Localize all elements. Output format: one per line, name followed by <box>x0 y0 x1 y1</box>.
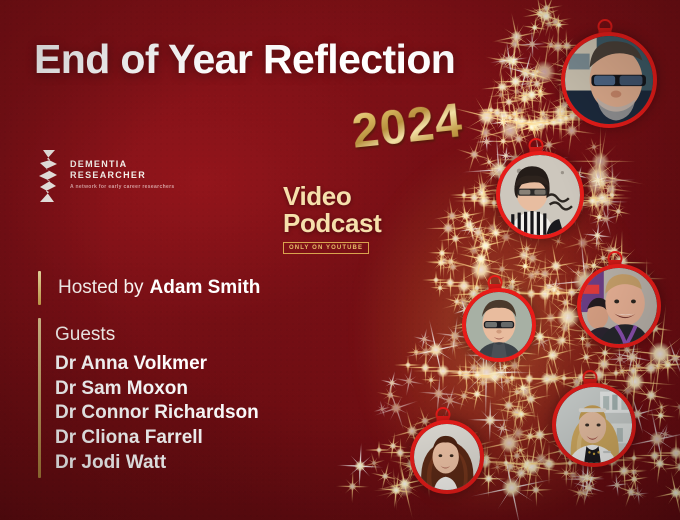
sparkle-light <box>498 394 521 417</box>
sparkle-light <box>583 471 599 487</box>
host-accent-bar <box>38 271 41 305</box>
sparkle-light <box>495 421 509 435</box>
sparkle-light <box>579 478 600 499</box>
sparkle-light <box>512 447 552 487</box>
sparkle-light <box>498 49 520 71</box>
garland-sparkle <box>482 364 508 390</box>
sparkle-light <box>385 479 406 500</box>
sparkle-light <box>528 21 542 35</box>
garland-sparkle <box>468 366 487 385</box>
sparkle-light <box>526 444 555 473</box>
sparkle-light <box>496 135 510 149</box>
sparkle-light <box>524 36 540 52</box>
ornament-ball <box>462 288 536 362</box>
ornament-ball <box>561 32 657 128</box>
sparkle-light <box>478 409 500 431</box>
sparkle-light <box>475 186 491 202</box>
sparkle-light <box>534 105 552 123</box>
youtube-badge: ONLY ON YOUTUBE <box>283 242 369 254</box>
sparkle-light <box>508 460 534 486</box>
sparkle-light <box>592 209 606 223</box>
sparkle-light <box>544 38 558 52</box>
sparkle-light <box>589 226 606 243</box>
sparkle-light <box>658 355 677 374</box>
sparkle-light <box>526 73 547 94</box>
sparkle-light <box>520 116 543 139</box>
sparkle-light <box>384 375 399 390</box>
sparkle-light <box>526 119 542 135</box>
sparkle-light <box>509 101 530 122</box>
sparkle-light <box>497 80 512 95</box>
sparkle-light <box>500 48 527 75</box>
video-podcast-block: Video Podcast ONLY ON YOUTUBE <box>283 183 381 254</box>
sparkle-light <box>659 428 671 440</box>
sparkle-light <box>520 83 544 107</box>
sparkle-light <box>587 194 607 214</box>
sparkle-light <box>520 62 547 89</box>
sparkle-light <box>484 419 532 467</box>
guests-label: Guests <box>55 324 259 346</box>
sparkle-light <box>591 188 619 216</box>
garland-sparkle <box>523 117 535 129</box>
sparkle-light <box>545 281 563 299</box>
sparkle-light <box>619 344 645 370</box>
sparkle-light <box>455 210 483 238</box>
end-of-year-reflection-poster: End of Year Reflection 2024 DEMENTIA RES… <box>0 0 680 520</box>
podcast-line-1: Video <box>283 183 381 210</box>
ornament-ball <box>552 383 636 467</box>
sparkle-light <box>494 88 509 103</box>
garland-sparkle <box>458 189 470 201</box>
host-prefix: Hosted by <box>58 277 144 299</box>
sparkle-light <box>668 455 680 479</box>
sparkle-light <box>462 142 486 166</box>
sparkle-light <box>479 469 498 488</box>
logo-text: DEMENTIA RESEARCHER A network for early … <box>70 160 175 192</box>
sparkle-light <box>531 123 543 135</box>
sparkle-light <box>417 331 455 369</box>
sparkle-light <box>546 12 566 32</box>
avatar <box>466 292 532 358</box>
garland-sparkle <box>663 440 680 466</box>
sparkle-light <box>587 140 600 153</box>
sparkle-light <box>537 276 560 299</box>
sparkle-light <box>673 486 680 500</box>
avatar <box>500 155 580 235</box>
avatar <box>581 268 657 344</box>
sparkle-light <box>520 75 536 91</box>
sparkle-light <box>367 455 381 469</box>
sparkle-light <box>441 205 463 227</box>
sparkle-light <box>464 221 479 236</box>
sparkle-light <box>491 462 502 473</box>
garland-sparkle <box>645 446 664 465</box>
sparkle-light <box>503 399 531 427</box>
sparkle-light <box>434 283 445 294</box>
sparkle-light <box>540 16 558 34</box>
sparkle-light <box>516 381 530 395</box>
garland-sparkle <box>500 457 512 469</box>
sparkle-light <box>513 83 536 106</box>
garland-sparkle <box>589 185 615 211</box>
sparkle-light <box>505 105 524 124</box>
sparkle-light <box>516 90 533 107</box>
sparkle-light <box>399 372 417 390</box>
garland-sparkle <box>471 188 497 214</box>
sparkle-light <box>381 393 411 423</box>
sparkle-light <box>434 255 449 270</box>
garland-sparkle <box>552 287 564 299</box>
sparkle-light <box>376 467 395 486</box>
sparkle-light <box>571 484 589 502</box>
sparkle-light <box>473 176 494 197</box>
sparkle-light <box>500 93 518 111</box>
sparkle-light <box>572 468 594 490</box>
sparkle-light <box>620 481 641 502</box>
ornament-3 <box>577 264 653 340</box>
sparkle-light <box>416 342 436 362</box>
sparkle-light <box>592 173 604 185</box>
sparkle-light <box>522 428 538 444</box>
sparkle-light <box>466 244 495 273</box>
sparkle-light <box>655 402 666 413</box>
sparkle-light <box>507 276 520 289</box>
garland-sparkle <box>507 111 526 130</box>
sparkle-light <box>476 376 489 389</box>
sparkle-light <box>514 88 536 110</box>
sparkle-light <box>648 452 671 475</box>
sparkle-light <box>463 239 485 261</box>
sparkle-light <box>376 404 387 415</box>
sparkle-light <box>662 345 680 370</box>
sparkle-light <box>625 471 642 488</box>
page-title: End of Year Reflection <box>34 38 455 81</box>
sparkle-light <box>502 22 531 51</box>
sparkle-light <box>593 173 613 193</box>
sparkle-light <box>382 387 399 404</box>
garland-sparkle <box>532 281 558 307</box>
sparkle-light <box>536 0 556 17</box>
garland-sparkle <box>465 188 484 207</box>
garland-sparkle <box>485 104 497 116</box>
sparkle-light <box>511 57 541 87</box>
avatar <box>556 387 632 463</box>
avatar <box>414 424 480 490</box>
sparkle-light <box>540 307 562 329</box>
garland-sparkle <box>525 114 544 133</box>
sparkle-light <box>509 448 525 464</box>
sparkle-light <box>454 362 479 387</box>
sparkle-light <box>445 259 462 276</box>
guest-name: Dr Sam Moxon <box>55 377 259 402</box>
sparkle-light <box>471 230 501 260</box>
sparkle-light <box>465 94 510 139</box>
sparkle-light <box>418 332 432 346</box>
sparkle-light <box>469 180 494 205</box>
sparkle-light <box>481 136 493 148</box>
sparkle-light <box>512 405 531 424</box>
sparkle-light <box>652 360 664 372</box>
sparkle-light <box>627 465 642 480</box>
sparkle-light <box>518 386 544 412</box>
sparkle-light <box>511 387 522 398</box>
sparkle-light <box>507 127 531 151</box>
sparkle-light <box>411 347 421 357</box>
sparkle-light <box>558 117 586 145</box>
sparkle-light <box>455 387 474 406</box>
podcast-line-2: Podcast <box>283 210 381 237</box>
dementia-researcher-logo: DEMENTIA RESEARCHER A network for early … <box>37 150 175 202</box>
sparkle-light <box>611 203 626 218</box>
sparkle-light <box>542 252 570 280</box>
sparkle-light <box>492 50 514 72</box>
sparkle-light <box>630 358 646 374</box>
sparkle-light <box>503 418 533 448</box>
garland-sparkle <box>454 367 466 379</box>
sparkle-light <box>509 241 537 269</box>
sparkle-light <box>433 251 452 270</box>
host-name: Adam Smith <box>150 277 261 299</box>
sparkle-light <box>444 335 463 354</box>
sparkle-light <box>552 235 564 247</box>
garland-sparkle <box>509 109 535 135</box>
garland-sparkle <box>528 111 554 137</box>
garland-sparkle <box>624 361 643 380</box>
guests-accent-bar <box>38 318 41 478</box>
sparkle-light <box>538 340 568 370</box>
logo-tagline: A network for early career researchers <box>70 184 175 192</box>
sparkle-light <box>465 219 491 245</box>
garland-sparkle <box>610 367 622 379</box>
garland-sparkle <box>488 103 507 122</box>
sparkle-light <box>498 455 521 478</box>
garland-sparkle <box>430 358 456 384</box>
sparkle-light <box>544 350 557 363</box>
sparkle-light <box>526 481 544 499</box>
sparkle-light <box>559 466 572 479</box>
sparkle-light <box>532 66 543 77</box>
sparkle-light <box>548 280 562 294</box>
sparkle-light <box>637 382 664 409</box>
garland-sparkle <box>373 444 385 456</box>
sparkle-light <box>553 20 564 31</box>
host-line: Hosted by Adam Smith <box>38 270 260 306</box>
garland-sparkle <box>541 117 553 129</box>
sparkle-light <box>503 69 528 94</box>
sparkle-light <box>532 86 548 102</box>
garland-sparkle <box>391 443 410 462</box>
sparkle-light <box>436 216 460 240</box>
sparkle-light <box>578 468 596 486</box>
guest-name: Dr Cliona Farrell <box>55 426 259 451</box>
sparkle-light <box>518 258 533 273</box>
ornament-ball <box>577 264 661 348</box>
guest-name: Dr Jodi Watt <box>55 451 259 476</box>
ornament-6 <box>552 383 628 459</box>
ornament-1 <box>561 32 649 120</box>
garland-sparkle <box>506 372 518 384</box>
sparkle-light <box>612 459 637 484</box>
sparkle-light <box>553 317 576 340</box>
sparkle-light <box>514 444 525 455</box>
guest-name: Dr Connor Richardson <box>55 401 259 426</box>
year-label: 2024 <box>349 93 465 159</box>
ornament-2 <box>496 151 576 231</box>
sparkle-light <box>528 264 546 282</box>
sparkle-light <box>473 229 492 248</box>
garland-sparkle <box>520 369 539 388</box>
sparkle-light <box>481 155 495 169</box>
sparkle-light <box>343 477 360 494</box>
sparkle-light <box>531 0 562 31</box>
sparkle-light <box>503 31 528 56</box>
sparkle-light <box>348 453 373 478</box>
sparkle-light <box>556 293 577 314</box>
sparkle-light <box>531 105 559 133</box>
avatar <box>565 36 653 124</box>
sparkle-light <box>519 245 544 270</box>
sparkle-light <box>505 371 546 412</box>
sparkle-light <box>615 364 629 378</box>
garland-sparkle <box>518 454 537 473</box>
sparkle-light <box>534 85 545 96</box>
sparkle-light <box>490 75 514 99</box>
sparkle-light <box>428 383 450 405</box>
sparkle-light <box>565 467 582 484</box>
logo-line-1: DEMENTIA <box>70 160 175 169</box>
garland-sparkle <box>606 189 618 201</box>
sparkle-light <box>384 477 408 501</box>
logo-line-2: RESEARCHER <box>70 171 175 180</box>
sparkle-light <box>601 169 625 193</box>
sparkle-light <box>632 488 645 501</box>
sparkle-light <box>578 485 593 500</box>
sparkle-light <box>569 229 597 257</box>
sparkle-light <box>464 358 484 378</box>
sparkle-light <box>637 419 676 458</box>
garland-sparkle <box>662 359 674 371</box>
sparkle-light <box>595 208 617 230</box>
sparkle-light <box>516 455 538 477</box>
garland-sparkle <box>583 191 602 210</box>
garland-sparkle <box>504 112 516 124</box>
sparkle-light <box>581 186 609 214</box>
sparkle-light <box>495 114 511 130</box>
sparkle-light <box>513 407 529 423</box>
sparkle-light <box>611 479 624 492</box>
ornament-5 <box>410 420 476 486</box>
sparkle-light <box>508 83 526 101</box>
sparkle-light <box>498 372 516 390</box>
sparkle-light <box>530 111 550 131</box>
sparkle-light <box>522 243 533 254</box>
ornament-ball <box>496 151 584 239</box>
sparkle-light <box>499 361 511 373</box>
sparkle-light <box>385 438 401 454</box>
sparkle-light <box>598 192 618 212</box>
sparkle-light <box>534 263 556 285</box>
ornament-4 <box>462 288 528 354</box>
sparkle-light <box>578 348 595 365</box>
sparkle-light <box>662 480 680 507</box>
garland-sparkle <box>402 359 414 371</box>
garland-sparkle <box>441 273 460 292</box>
sparkle-light <box>455 205 477 227</box>
sparkle-light <box>520 265 543 288</box>
sparkle-light <box>435 246 449 260</box>
sparkle-light <box>535 335 550 350</box>
sparkle-light <box>653 408 669 424</box>
sparkle-light <box>672 399 680 414</box>
sparkle-light <box>599 177 623 201</box>
sparkle-light <box>581 142 618 179</box>
garland-sparkle <box>491 103 517 129</box>
sparkle-light <box>505 110 535 140</box>
sparkle-light <box>548 328 575 355</box>
garland-sparkle <box>638 355 664 381</box>
sparkle-light <box>471 118 500 147</box>
garland-sparkle <box>416 358 435 377</box>
sparkle-light <box>593 238 602 247</box>
sparkle-light <box>530 3 552 25</box>
sparkle-light <box>489 361 513 385</box>
sparkle-light <box>487 462 537 512</box>
sparkle-light <box>442 253 460 271</box>
sparkle-light <box>484 104 536 156</box>
garland-sparkle <box>430 274 442 286</box>
ornament-ball <box>410 420 484 494</box>
sparkle-light <box>556 333 571 348</box>
sparkle-light <box>446 230 465 249</box>
garland-sparkle <box>628 452 640 464</box>
sparkle-light <box>426 375 436 385</box>
guest-name: Dr Anna Volkmer <box>55 352 259 377</box>
sparkle-light <box>466 384 487 405</box>
sparkle-light <box>612 351 627 366</box>
sparkle-light <box>527 422 554 449</box>
logo-mark-icon <box>37 150 61 202</box>
guests-block: Guests Dr Anna Volkmer Dr Sam Moxon Dr C… <box>55 324 259 475</box>
